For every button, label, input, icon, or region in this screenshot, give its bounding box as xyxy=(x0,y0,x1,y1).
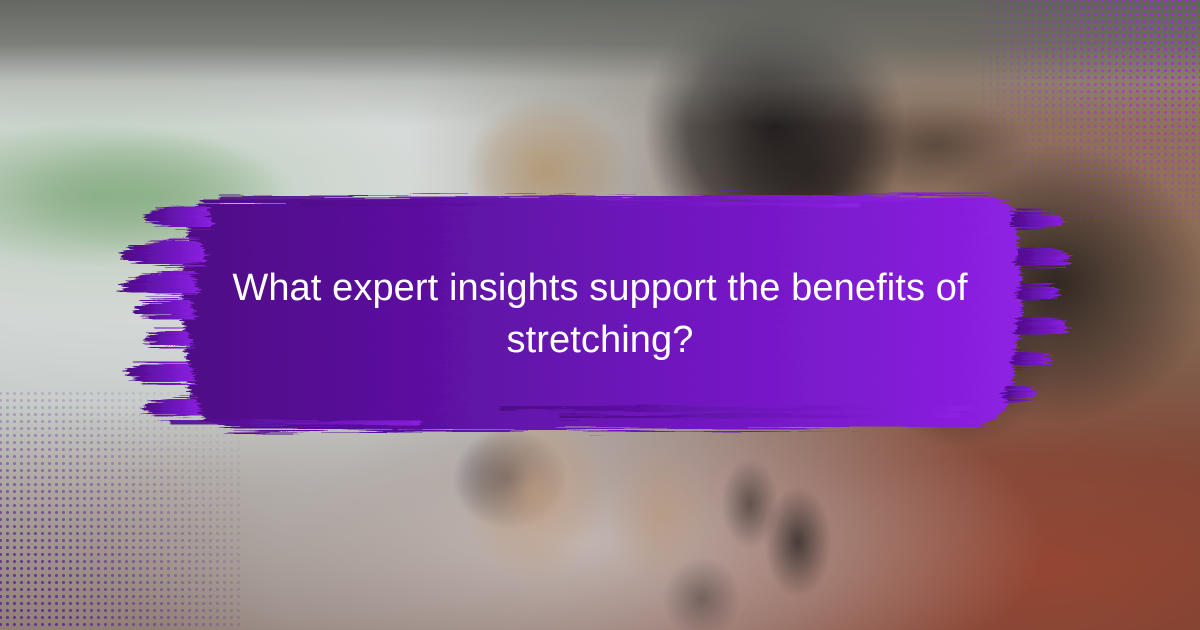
social-card: What expert insights support the benefit… xyxy=(0,0,1200,630)
headline-text: What expert insights support the benefit… xyxy=(180,262,1020,366)
